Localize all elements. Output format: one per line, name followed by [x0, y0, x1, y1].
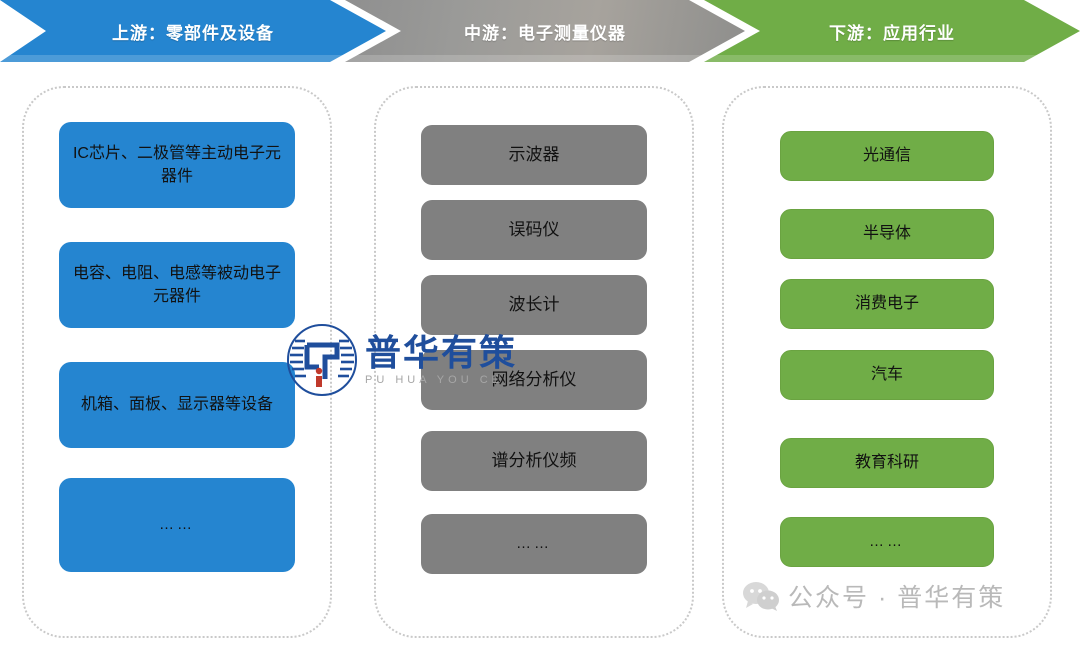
node-downstream-5-label: ……: [869, 531, 905, 553]
header-segment-midstream-label: 中游：电子测量仪器: [464, 19, 626, 44]
column-downstream: 光通信 半导体 消费电子 汽车 教育科研 ……: [722, 86, 1052, 638]
header-segment-midstream: 中游：电子测量仪器: [345, 0, 745, 62]
node-midstream-1: 误码仪: [421, 200, 647, 260]
header-segment-upstream: 上游：零部件及设备: [0, 0, 386, 62]
node-upstream-3-label: ……: [159, 514, 195, 536]
node-midstream-0-label: 示波器: [509, 143, 560, 168]
header-segment-downstream-label: 下游：应用行业: [829, 19, 955, 44]
header-segment-downstream: 下游：应用行业: [704, 0, 1080, 62]
column-midstream: 示波器 误码仪 波长计 网络分析仪 谱分析仪频 ……: [374, 86, 694, 638]
node-downstream-0: 光通信: [780, 131, 994, 181]
node-upstream-2-label: 机箱、面板、显示器等设备: [81, 393, 273, 416]
node-upstream-2: 机箱、面板、显示器等设备: [59, 362, 295, 448]
node-midstream-4-label: 谱分析仪频: [492, 449, 577, 474]
node-midstream-3-label: 网络分析仪: [492, 368, 577, 393]
node-downstream-1-label: 半导体: [863, 222, 911, 245]
node-downstream-1: 半导体: [780, 209, 994, 259]
node-downstream-3-label: 汽车: [871, 363, 903, 386]
node-upstream-3: ……: [59, 478, 295, 572]
node-downstream-2: 消费电子: [780, 279, 994, 329]
node-midstream-5: ……: [421, 514, 647, 574]
node-downstream-0-label: 光通信: [863, 144, 911, 167]
node-upstream-0: IC芯片、二极管等主动电子元器件: [59, 122, 295, 208]
value-chain-columns: IC芯片、二极管等主动电子元器件 电容、电阻、电感等被动电子元器件 机箱、面板、…: [0, 76, 1080, 649]
header-shade-downstream: [704, 55, 1080, 62]
header-shade-midstream: [345, 55, 745, 62]
node-downstream-4: 教育科研: [780, 438, 994, 488]
header-segment-upstream-label: 上游：零部件及设备: [112, 19, 274, 44]
node-midstream-4: 谱分析仪频: [421, 431, 647, 491]
node-upstream-0-label: IC芯片、二极管等主动电子元器件: [71, 142, 283, 188]
node-midstream-2: 波长计: [421, 275, 647, 335]
node-downstream-2-label: 消费电子: [855, 292, 919, 315]
node-midstream-3: 网络分析仪: [421, 350, 647, 410]
node-midstream-1-label: 误码仪: [509, 218, 560, 243]
node-downstream-5: ……: [780, 517, 994, 567]
value-chain-header-band: 上游：零部件及设备 中游：电子测量仪器 下游：应用行业: [0, 0, 1080, 62]
node-downstream-4-label: 教育科研: [855, 451, 919, 474]
node-midstream-2-label: 波长计: [509, 293, 560, 318]
node-upstream-1-label: 电容、电阻、电感等被动电子元器件: [71, 262, 283, 308]
node-midstream-0: 示波器: [421, 125, 647, 185]
header-shade-upstream: [0, 55, 386, 62]
node-midstream-5-label: ……: [516, 533, 552, 555]
node-downstream-3: 汽车: [780, 350, 994, 400]
column-upstream: IC芯片、二极管等主动电子元器件 电容、电阻、电感等被动电子元器件 机箱、面板、…: [22, 86, 332, 638]
node-upstream-1: 电容、电阻、电感等被动电子元器件: [59, 242, 295, 328]
